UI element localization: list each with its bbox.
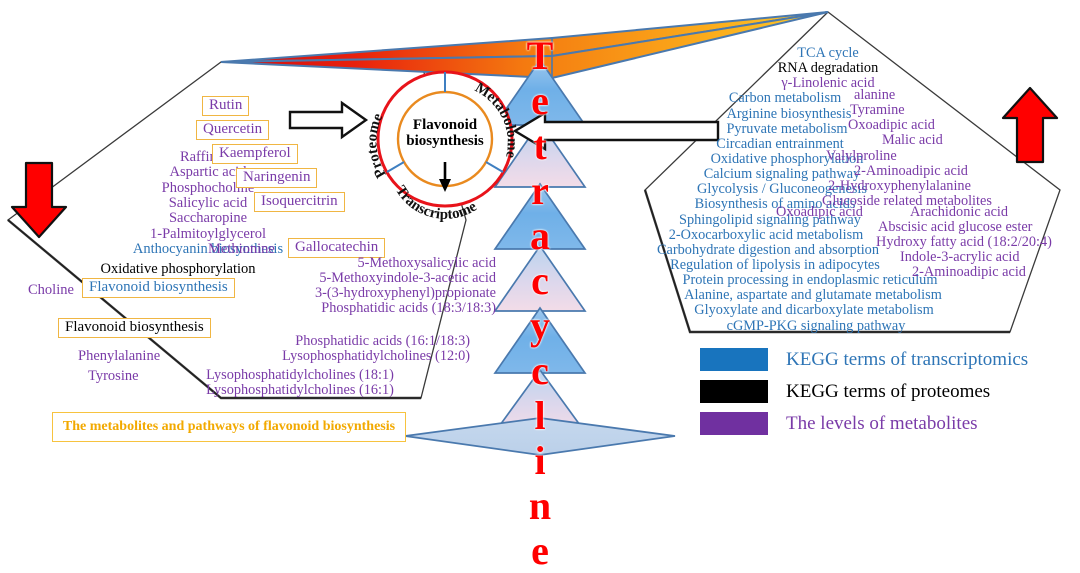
list-item: 5-Methoxysalicylic acid	[196, 256, 496, 271]
metabolite-box[interactable]: Rutin	[202, 96, 249, 116]
list-item: Tyramine	[840, 103, 1080, 118]
list-item: 5-Methoxyindole-3-acetic acid	[196, 271, 496, 286]
list-item: Lysophosphatidylcholines (18:1)	[150, 368, 450, 383]
list-item: Phosphatidic acids (16:1/18:3)	[170, 334, 470, 349]
right-oxoadipic-2: Oxoadipic acid	[776, 204, 863, 221]
list-item: 3-(3-hydroxyphenyl)propionate	[196, 286, 496, 301]
right-right-column: alanine Tyramine Oxoadipic acid Malic ac…	[840, 88, 1080, 209]
list-item: RNA degradation	[648, 61, 1008, 76]
left-column-c2: Phosphatidic acids (16:1/18:3) Lysophosp…	[170, 334, 470, 364]
metabolite-box[interactable]: Isoquercitrin	[254, 192, 345, 212]
list-item: Malic acid	[840, 133, 1080, 148]
left-choline: Choline	[28, 282, 74, 299]
metabolite-box[interactable]: Kaempferol	[212, 144, 298, 164]
list-item: 2-Hydroxyphenylalanine	[828, 179, 1080, 194]
legend-row: The levels of metabolites	[700, 412, 1080, 435]
left-boxed-metabolites: Rutin Quercetin Kaempferol Naringenin Is…	[196, 96, 396, 216]
legend-row: KEGG terms of proteomes	[700, 380, 1080, 403]
list-item: Oxoadipic acid	[840, 118, 1080, 133]
left-phenylalanine: Phenylalanine	[78, 348, 160, 365]
list-item: Valylproline	[826, 149, 1080, 164]
list-item: Lysophosphatidylcholines (12:0)	[170, 349, 470, 364]
tetracycline-label: Tetracycline	[519, 172, 561, 434]
metabolite-box[interactable]: Quercetin	[196, 120, 269, 140]
left-column-c3: Lysophosphatidylcholines (18:1) Lysophos…	[150, 368, 450, 398]
right-aminoadipic-2: 2-Aminoadipic acid	[912, 264, 1026, 281]
list-item: Lysophosphatidylcholines (16:1)	[150, 383, 450, 398]
legend-swatch-metabolites	[700, 412, 768, 435]
list-item: alanine	[840, 88, 1080, 103]
circle-core-line1: Flavonoid	[383, 118, 507, 134]
list-item: 2-Aminoadipic acid	[840, 164, 1080, 179]
legend-label: The levels of metabolites	[786, 413, 978, 435]
list-item: TCA cycle	[648, 46, 1008, 61]
figure-caption: The metabolites and pathways of flavonoi…	[52, 412, 406, 442]
legend: KEGG terms of transcriptomics KEGG terms…	[700, 348, 1080, 444]
legend-label: KEGG terms of proteomes	[786, 381, 990, 403]
legend-swatch-proteomes	[700, 380, 768, 403]
legend-row: KEGG terms of transcriptomics	[700, 348, 1080, 371]
legend-label: KEGG terms of transcriptomics	[786, 349, 1028, 371]
left-tyrosine: Tyrosine	[88, 368, 139, 385]
circle-core-line2: biosynthesis	[383, 134, 507, 150]
metabolite-box[interactable]: Naringenin	[236, 168, 317, 188]
list-item: Glyoxylate and dicarboxylate metabolism	[648, 303, 1008, 318]
circle-core-label: Flavonoid biosynthesis	[383, 118, 507, 149]
figure-canvas: Proteome Metabolome Transcriptome Flavon	[0, 0, 1080, 460]
list-item: Alanine, aspartate and glutamate metabol…	[648, 288, 1008, 303]
legend-swatch-transcriptomics	[700, 348, 768, 371]
left-column-c: 5-Methoxysalicylic acid 5-Methoxyindole-…	[196, 256, 496, 317]
list-item: cGMP-PKG signaling pathway	[648, 319, 1008, 334]
list-item: Phosphatidic acids (18:3/18:3)	[196, 301, 496, 316]
